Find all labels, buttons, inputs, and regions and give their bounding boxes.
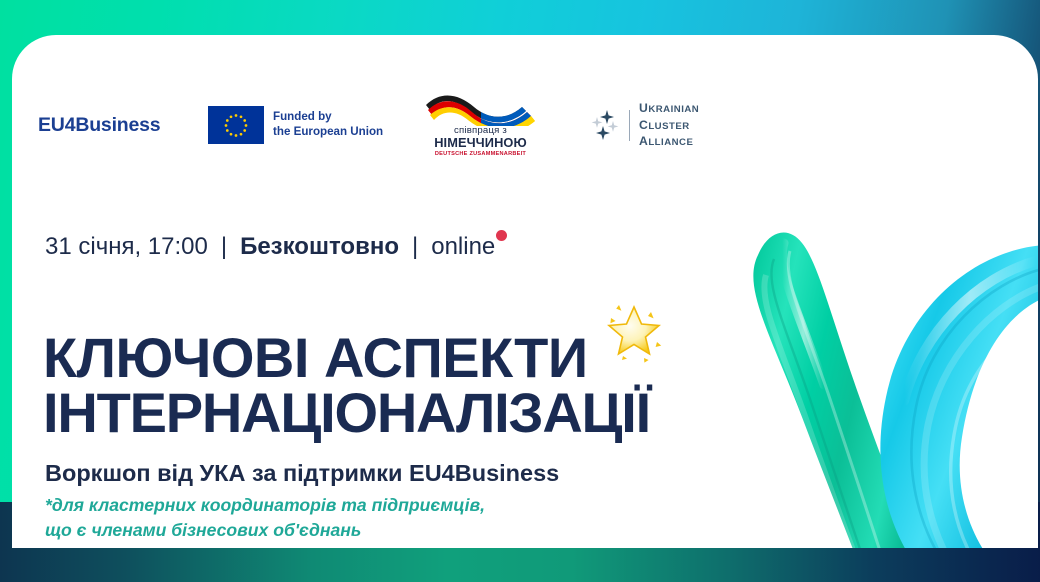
subtitle-note-line1: *для кластерних координаторів та підприє… — [45, 493, 485, 518]
event-price: Безкоштовно — [240, 233, 399, 261]
coop-line3: DEUTSCHE ZUSAMMENARBEIT — [435, 151, 526, 157]
ukrainian-cluster-alliance-logo: UKRAINIAN CLUSTER ALLIANCE — [590, 100, 699, 150]
uca-line2: CLUSTER — [639, 117, 699, 134]
funded-by-line2: the European Union — [273, 125, 383, 140]
event-datetime: 31 січня, 17:00 — [45, 233, 208, 261]
funded-by-text: Funded by the European Union — [273, 110, 383, 140]
uca-line1: UKRAINIAN — [639, 100, 699, 117]
funded-by-eu-logo: Funded by the European Union — [208, 106, 413, 144]
green-tube — [753, 233, 938, 548]
eu-flag-icon — [208, 106, 264, 144]
german-ukrainian-flag-ribbon-icon — [422, 93, 540, 126]
headline-line2: Інтернаціоналізації — [43, 385, 650, 440]
eu4business-logo: EU4Business — [38, 114, 208, 137]
four-pointed-stars-icon — [590, 109, 620, 141]
uca-line3: ALLIANCE — [639, 133, 699, 150]
page-title: Ключові аспекти Інтернаціоналізації — [43, 330, 650, 441]
coop-line2: НІМЕЧЧИНОЮ — [434, 136, 527, 149]
glossy-teal-tubes-icon — [706, 185, 1038, 548]
content-card: EU4Business — [12, 35, 1038, 548]
glowing-star-icon — [601, 298, 667, 364]
red-dot-icon — [496, 230, 507, 241]
uca-divider — [629, 110, 630, 141]
event-format: online — [431, 233, 495, 260]
headline-line1: Ключові аспекти — [43, 330, 650, 385]
subtitle-main: Воркшоп від УКА за підтримки EU4Business — [45, 460, 559, 487]
event-format-wrap: online — [431, 233, 495, 261]
uca-text: UKRAINIAN CLUSTER ALLIANCE — [639, 100, 699, 150]
partner-logo-row: EU4Business — [38, 85, 738, 165]
cyan-tube — [880, 245, 1038, 548]
event-meta-line: 31 січня, 17:00 | Безкоштовно | online — [45, 233, 495, 261]
meta-separator-1: | — [221, 233, 227, 261]
meta-separator-2: | — [412, 233, 418, 261]
german-cooperation-logo: співпраця з НІМЕЧЧИНОЮ DEUTSCHE ZUSAMMEN… — [413, 93, 548, 156]
subtitle-note-line2: що є членами бізнесових об'єднань — [45, 518, 485, 543]
subtitle-note: *для кластерних координаторів та підприє… — [45, 493, 485, 543]
funded-by-line1: Funded by — [273, 110, 383, 125]
